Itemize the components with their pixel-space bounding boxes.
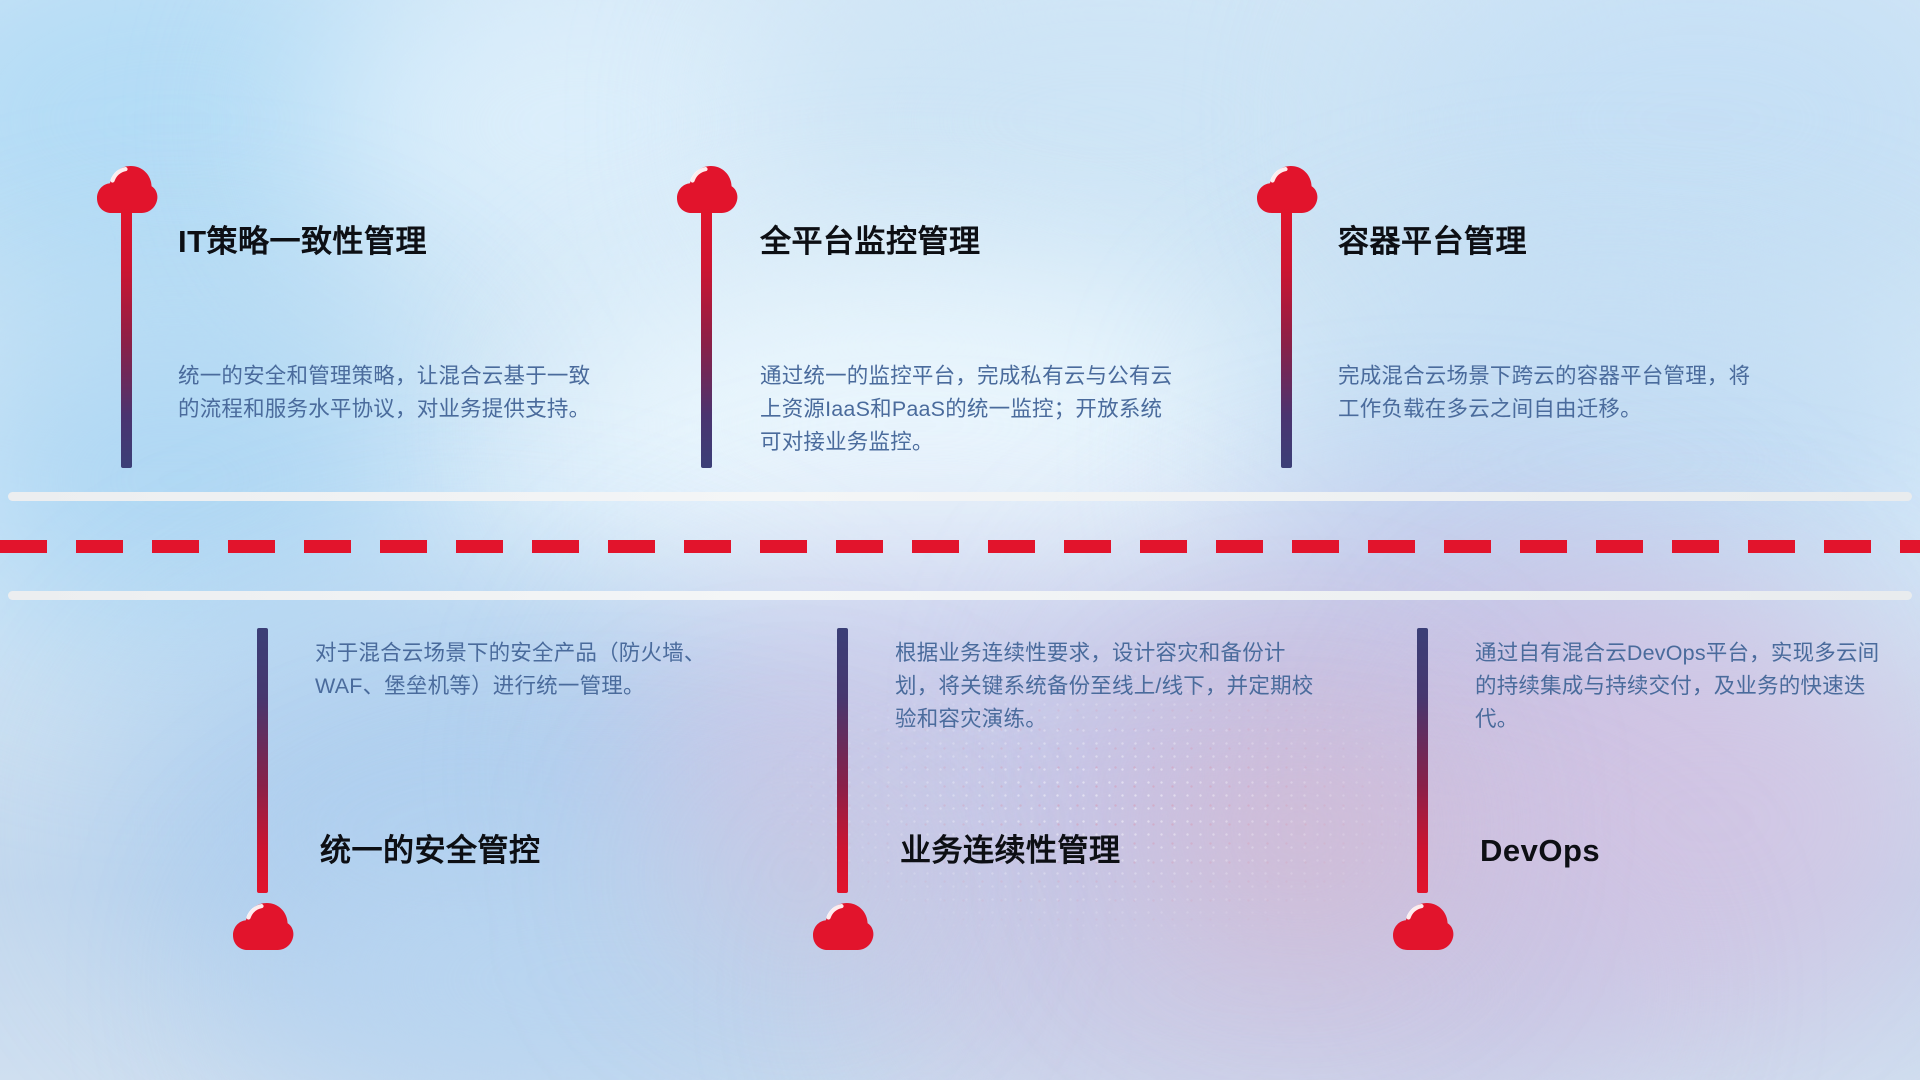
connector-line [837,628,848,893]
connector-line [257,628,268,893]
divider-rail-top [8,492,1912,501]
capability-title: DevOps [1480,835,1600,866]
capability-title: 统一的安全管控 [320,835,541,866]
cloud-icon [812,900,874,952]
capability-description: 通过自有混合云DevOps平台，实现多云间的持续集成与持续交付，及业务的快速迭代… [1475,637,1895,736]
capability-description: 对于混合云场景下的安全产品（防火墙、WAF、堡垒机等）进行统一管理。 [315,637,735,703]
capability-title: 容器平台管理 [1338,226,1527,257]
connector-line [1417,628,1428,893]
section-divider [0,492,1920,600]
capability-title: 全平台监控管理 [760,226,981,257]
red-dashed-divider [0,540,1920,553]
cloud-icon [1392,900,1454,952]
capability-description: 通过统一的监控平台，完成私有云与公有云上资源IaaS和PaaS的统一监控；开放系… [760,360,1180,459]
connector-line [121,208,132,468]
capability-title: IT策略一致性管理 [178,226,427,257]
cloud-icon [232,900,294,952]
capability-title: 业务连续性管理 [900,835,1121,866]
capability-description: 统一的安全和管理策略，让混合云基于一致的流程和服务水平协议，对业务提供支持。 [178,360,598,426]
connector-line [701,208,712,468]
capability-description: 完成混合云场景下跨云的容器平台管理，将工作负载在多云之间自由迁移。 [1338,360,1758,426]
capability-description: 根据业务连续性要求，设计容灾和备份计划，将关键系统备份至线上/线下，并定期校验和… [895,637,1315,736]
connector-line [1281,208,1292,468]
infographic-canvas: IT策略一致性管理 统一的安全和管理策略，让混合云基于一致的流程和服务水平协议，… [0,0,1920,1080]
divider-rail-bottom [8,591,1912,600]
